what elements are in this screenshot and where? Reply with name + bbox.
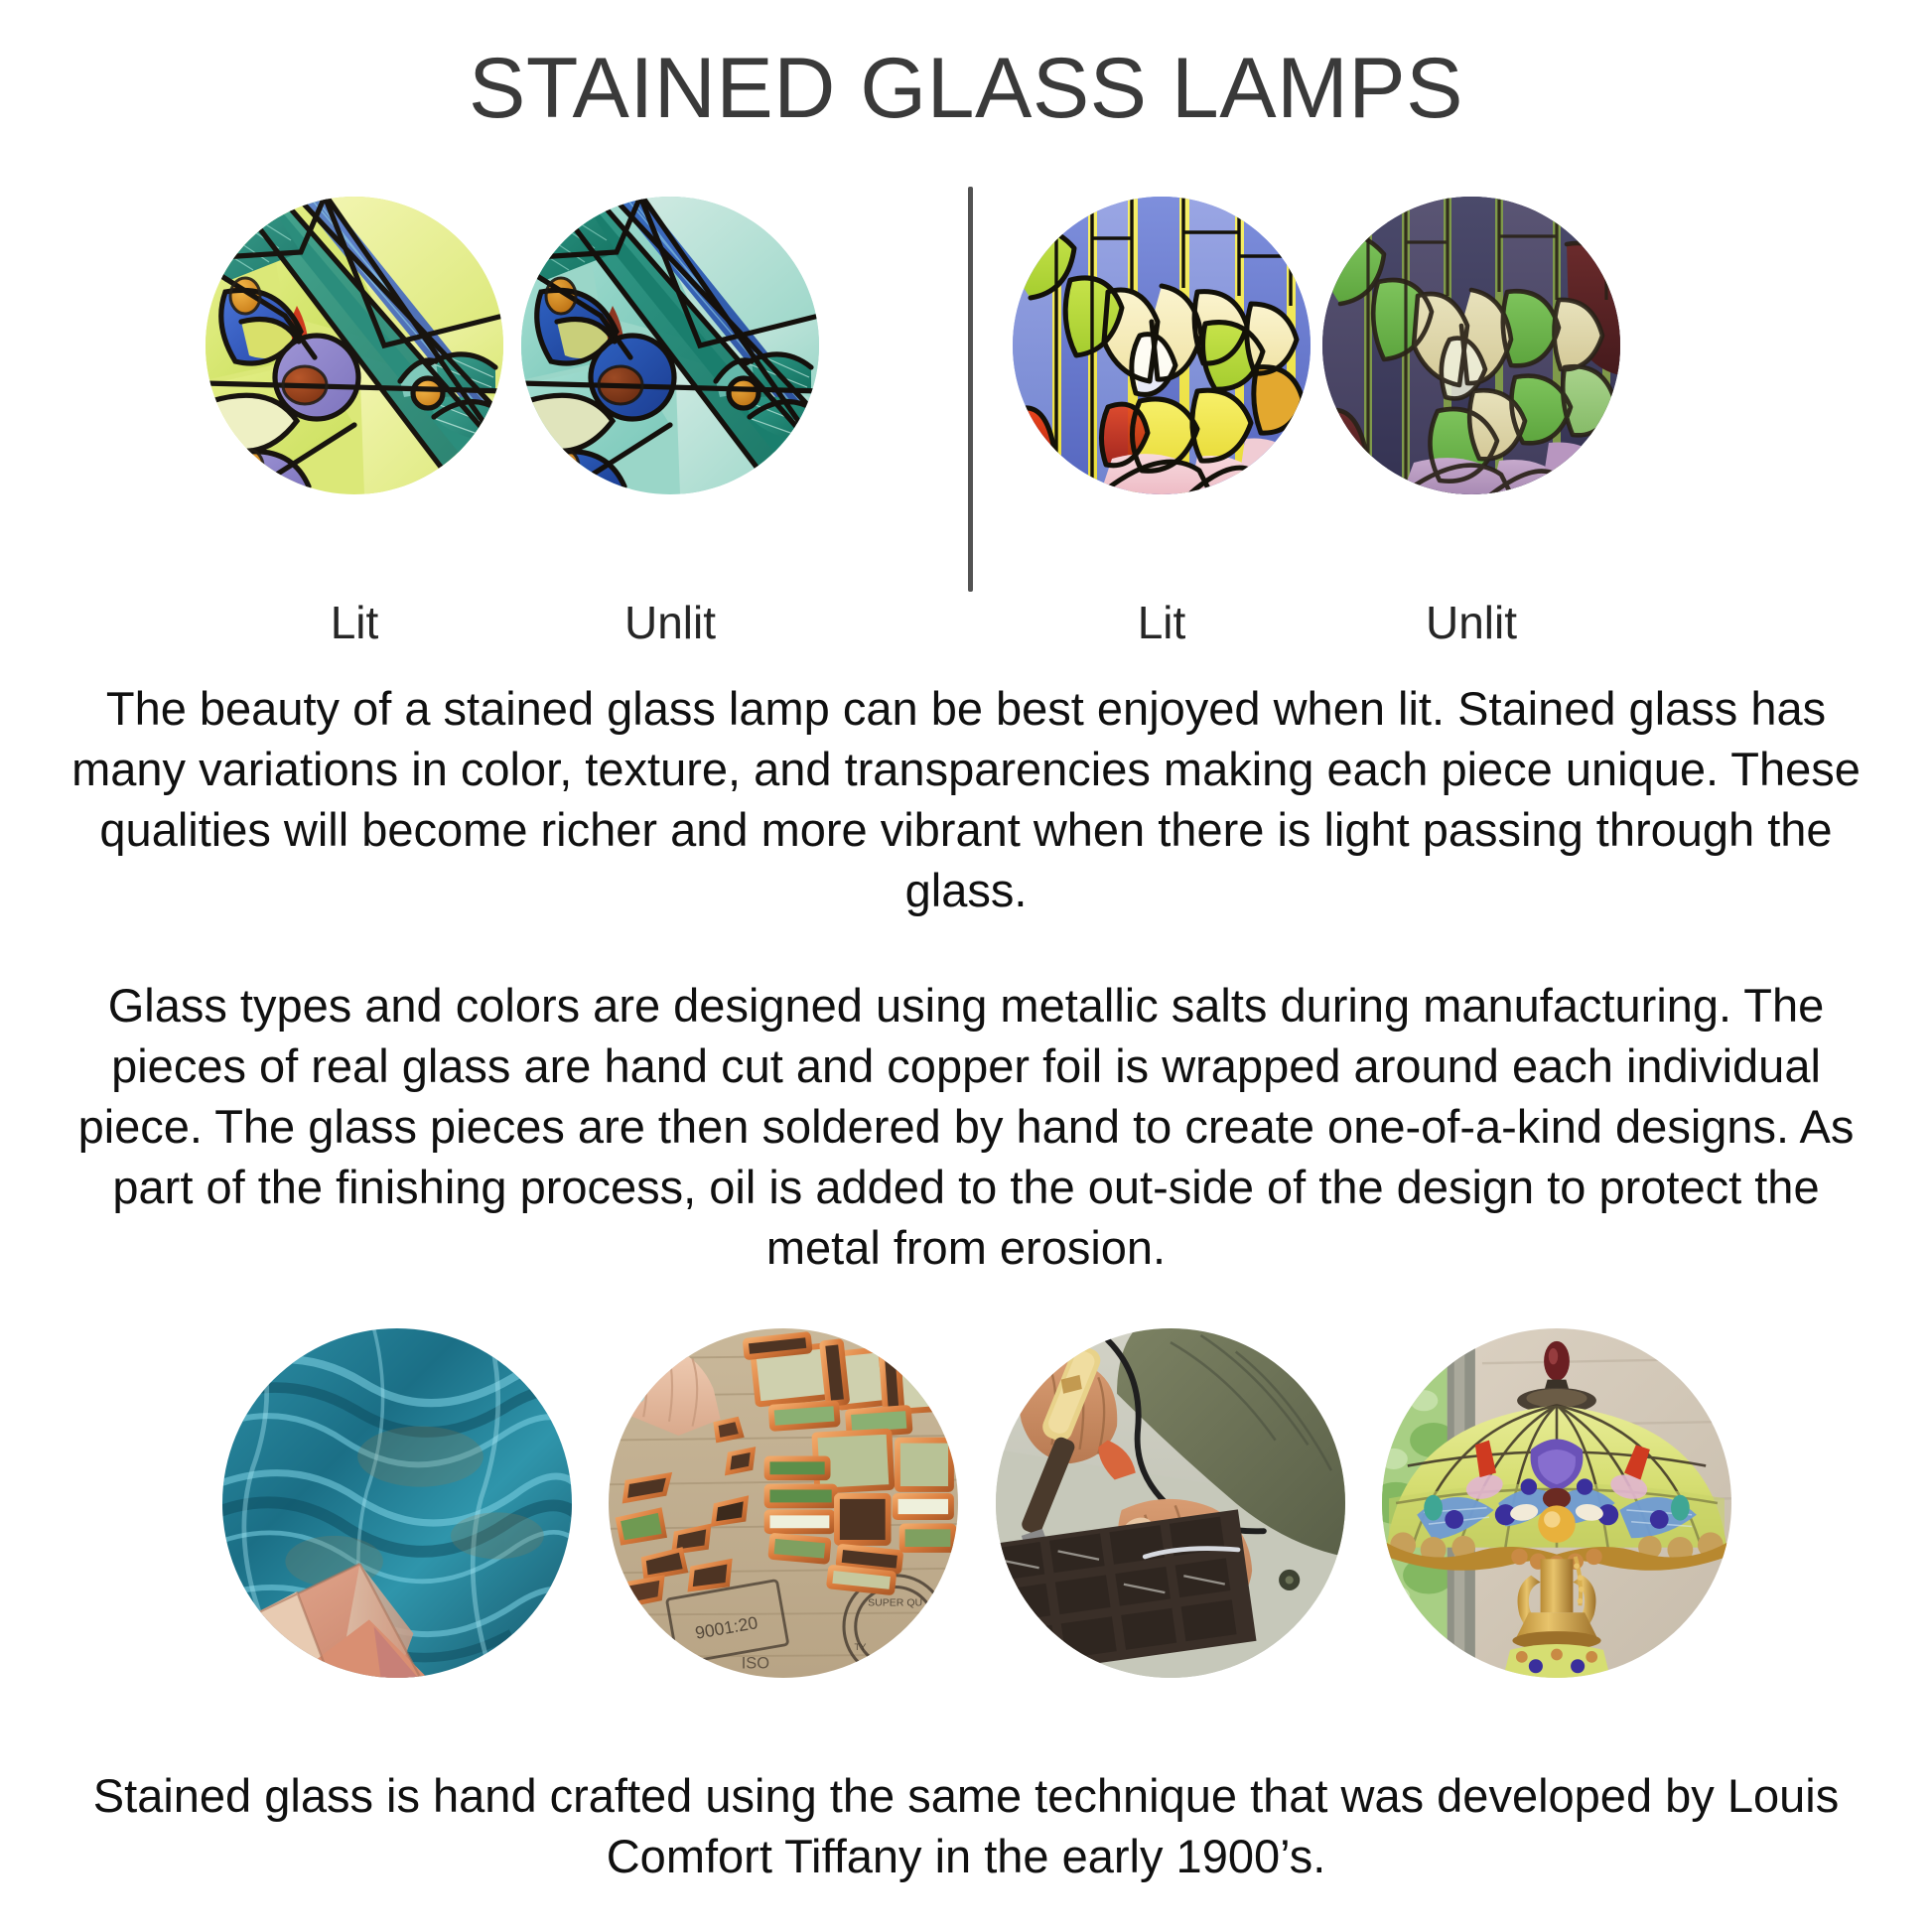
copper-foil-pieces-circle: SUPER QU TY 9001:20 ISO <box>609 1328 958 1678</box>
blue-glass-sheet-circle <box>222 1328 572 1678</box>
section-divider <box>968 187 973 592</box>
stained-glass-floral-unlit-circle <box>1322 197 1620 494</box>
infographic-page: STAINED GLASS LAMPS <box>0 0 1932 1932</box>
process-image-row: SUPER QU TY 9001:20 ISO <box>0 1328 1932 1698</box>
caption-lit-a: Lit <box>206 596 503 649</box>
finished-tiffany-lamp-circle <box>1382 1328 1731 1678</box>
comparison-captions: Lit Unlit Lit Unlit <box>0 596 1932 665</box>
process-image-2: SUPER QU TY 9001:20 ISO <box>609 1328 958 1678</box>
soldering-iron-circle <box>996 1328 1345 1678</box>
caption-unlit-b: Unlit <box>1322 596 1620 649</box>
comparison-image-3 <box>1013 197 1311 494</box>
caption-unlit-a: Unlit <box>521 596 819 649</box>
caption-lit-b: Lit <box>1013 596 1311 649</box>
footer-tiffany-credit: Stained glass is hand crafted using the … <box>62 1765 1870 1886</box>
process-image-4 <box>1382 1328 1731 1678</box>
process-image-1 <box>222 1328 572 1678</box>
stained-glass-fan-lit-circle <box>206 197 503 494</box>
lit-unlit-comparison-row <box>0 187 1932 604</box>
process-image-3 <box>996 1328 1345 1678</box>
comparison-image-2 <box>521 197 819 494</box>
comparison-image-1 <box>206 197 503 494</box>
svg-text:TY: TY <box>854 1642 867 1652</box>
stained-glass-fan-unlit-circle <box>521 197 819 494</box>
paragraph-manufacturing: Glass types and colors are designed usin… <box>62 975 1870 1278</box>
stained-glass-floral-lit-circle <box>1013 197 1311 494</box>
comparison-image-4 <box>1322 197 1620 494</box>
paragraph-beauty: The beauty of a stained glass lamp can b… <box>62 678 1870 920</box>
page-title: STAINED GLASS LAMPS <box>0 44 1932 133</box>
svg-text:ISO: ISO <box>742 1655 769 1673</box>
svg-text:SUPER QU: SUPER QU <box>868 1596 922 1608</box>
